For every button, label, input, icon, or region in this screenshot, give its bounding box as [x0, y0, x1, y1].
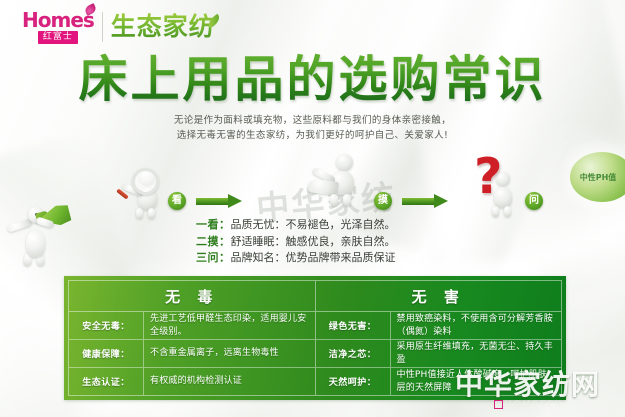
table-cell-right: 绿色无害： 禁用致癌染料，不使用含可分解芳香胺（偶氮）染料 [315, 312, 562, 339]
table-cell-key: 生态认证： [69, 368, 144, 395]
question-mark-icon: ? [474, 152, 502, 201]
page-title: 床上用品的选购常识 [0, 52, 625, 108]
list-item-key: 一看： [196, 218, 231, 231]
brand-logo-homes: Homes 红富士 [22, 10, 94, 44]
three-points-list: 一看：品质无忧：不易褪色，光泽自然。 二摸：舒适睡眠：触感优良，亲肤自然。 三问… [196, 217, 396, 267]
list-item-value: 品牌知名：优势品牌带来品质保证 [231, 251, 396, 264]
table-cell-key: 洁净之芯： [316, 340, 391, 367]
table-cell-value: 采用原生纤维填充，无菌无尘、持久丰盈 [391, 340, 562, 367]
eco-label: 生态家纺 [111, 13, 215, 41]
logo-divider [102, 12, 103, 42]
flow-figure-ask: ? [462, 152, 536, 220]
mascot-with-megaphone-icon [2, 186, 72, 266]
list-item-key: 三问： [196, 251, 231, 264]
list-item: 三问：品牌知名：优势品牌带来品质保证 [196, 250, 396, 267]
table-header-row: 无 毒 无 害 [69, 281, 561, 312]
table-row: 健康保障： 不含重金属离子，远离生物毒性 洁净之芯： 采用原生纤维填充，无菌无尘… [69, 339, 561, 367]
brand-logo: Homes 红富士 生态家纺 [22, 10, 215, 44]
ph-neutral-badge: 中性PH值 [570, 152, 625, 202]
step-badge-look: 看 [168, 192, 186, 210]
table-cell-left: 健康保障： 不含重金属离子，远离生物毒性 [69, 340, 315, 367]
table-cell-key: 健康保障： [69, 340, 144, 367]
table-cell-key: 安全无毒： [69, 312, 144, 339]
three-step-flow: 看 摸 ? 问 [110, 150, 540, 220]
table-header-nontoxic: 无 毒 [69, 281, 315, 311]
subtitle-line-1: 无论是作为面料或填充物，这些原料都与我们的身体亲密接触， [0, 113, 625, 128]
list-item: 二摸：舒适睡眠：触感优良，亲肤自然。 [196, 234, 396, 251]
ph-badge-label: 中性PH值 [580, 172, 617, 183]
table-cell-value: 不含重金属离子，远离生物毒性 [144, 340, 315, 367]
step-badge-touch: 摸 [374, 192, 392, 210]
site-watermark: 中华家纺网 HOMETEX [455, 371, 600, 411]
table-cell-right: 洁净之芯： 采用原生纤维填充，无菌无尘、持久丰盈 [315, 340, 562, 367]
table-cell-value: 禁用致癌染料，不使用含可分解芳香胺（偶氮）染料 [391, 312, 562, 339]
list-item-value: 品质无忧：不易褪色，光泽自然。 [231, 218, 396, 231]
table-cell-value: 有权威的机构检测认证 [144, 368, 315, 395]
brand-name-en: Homes [22, 10, 94, 30]
subtitle-line-2: 选择无毒无害的生态家纺，为我们更好的呵护自己、关爱家人! [0, 128, 625, 143]
table-cell-value: 先进工艺低甲醛生态印染，适用婴儿安全级别。 [144, 312, 315, 339]
table-cell-left: 生态认证： 有权威的机构检测认证 [69, 368, 315, 395]
table-cell-left: 安全无毒： 先进工艺低甲醛生态印染，适用婴儿安全级别。 [69, 312, 315, 339]
site-watermark-main: 中华家纺网 [455, 371, 600, 399]
poster-canvas: Homes 红富士 生态家纺 床上用品的选购常识 无论是作为面料或填充物，这些原… [0, 0, 625, 417]
table-cell-key: 天然呵护： [316, 368, 391, 395]
brand-name-cn: 红富士 [38, 31, 78, 44]
table-row: 安全无毒： 先进工艺低甲醛生态印染，适用婴儿安全级别。 绿色无害： 禁用致癌染料… [69, 312, 561, 339]
list-item-value: 舒适睡眠：触感优良，亲肤自然。 [231, 235, 396, 248]
square-icon [494, 400, 503, 409]
subtitle-block: 无论是作为面料或填充物，这些原料都与我们的身体亲密接触， 选择无毒无害的生态家纺… [0, 113, 625, 143]
table-cell-key: 绿色无害： [316, 312, 391, 339]
flow-arrow-1 [196, 196, 244, 206]
site-watermark-sub-text: HOMETEX [505, 400, 564, 410]
table-header-harmless: 无 害 [315, 281, 562, 311]
step-badge-ask: 问 [525, 192, 543, 210]
flow-figure-touch [300, 150, 380, 216]
list-item-key: 二摸： [196, 235, 231, 248]
flow-arrow-2 [402, 196, 450, 206]
list-item: 一看：品质无忧：不易褪色，光泽自然。 [196, 217, 396, 234]
